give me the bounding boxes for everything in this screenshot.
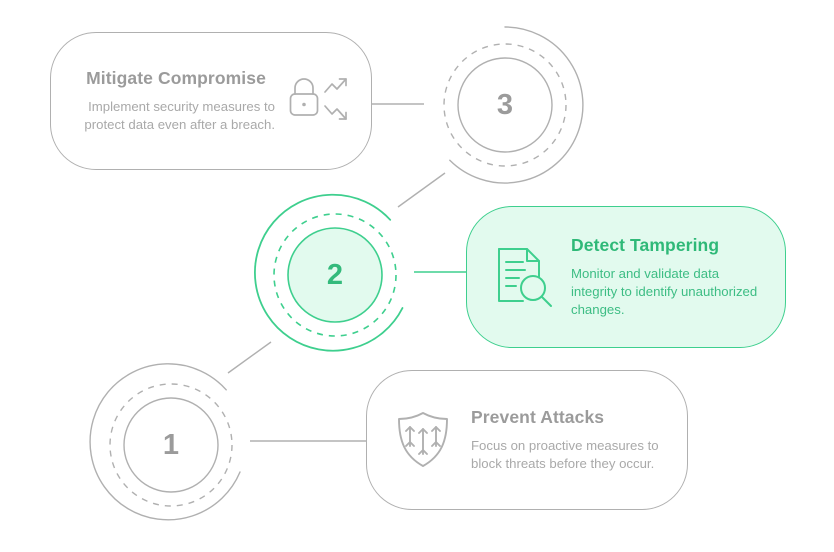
card-detect-tampering[interactable]: Detect Tampering Monitor and validate da… xyxy=(466,206,786,348)
card-prevent-attacks[interactable]: Prevent Attacks Focus on proactive measu… xyxy=(366,370,688,510)
card-mitigate-text: Mitigate Compromise Implement security m… xyxy=(77,68,275,134)
step-marker-1-number: 1 xyxy=(88,362,254,528)
step-marker-3[interactable]: 3 xyxy=(422,22,588,188)
step-marker-1[interactable]: 1 xyxy=(88,362,254,528)
lock-with-trend-arrows-icon xyxy=(281,70,357,132)
card-detect-description: Monitor and validate data integrity to i… xyxy=(571,265,765,319)
card-mitigate-compromise[interactable]: Mitigate Compromise Implement security m… xyxy=(50,32,372,170)
card-detect-title: Detect Tampering xyxy=(571,235,719,256)
card-mitigate-title: Mitigate Compromise xyxy=(77,68,275,89)
card-prevent-description: Focus on proactive measures to block thr… xyxy=(471,437,669,473)
step-marker-2-number: 2 xyxy=(252,192,418,358)
card-detect-text: Detect Tampering Monitor and validate da… xyxy=(571,235,765,319)
infographic-canvas: Mitigate Compromise Implement security m… xyxy=(0,0,834,552)
step-marker-2[interactable]: 2 xyxy=(252,192,418,358)
shield-arrows-icon xyxy=(387,407,459,473)
card-prevent-title: Prevent Attacks xyxy=(471,407,604,428)
card-prevent-text: Prevent Attacks Focus on proactive measu… xyxy=(471,407,669,473)
document-magnifier-icon xyxy=(487,242,561,312)
step-marker-3-number: 3 xyxy=(422,22,588,188)
card-mitigate-description: Implement security measures to protect d… xyxy=(77,98,275,134)
